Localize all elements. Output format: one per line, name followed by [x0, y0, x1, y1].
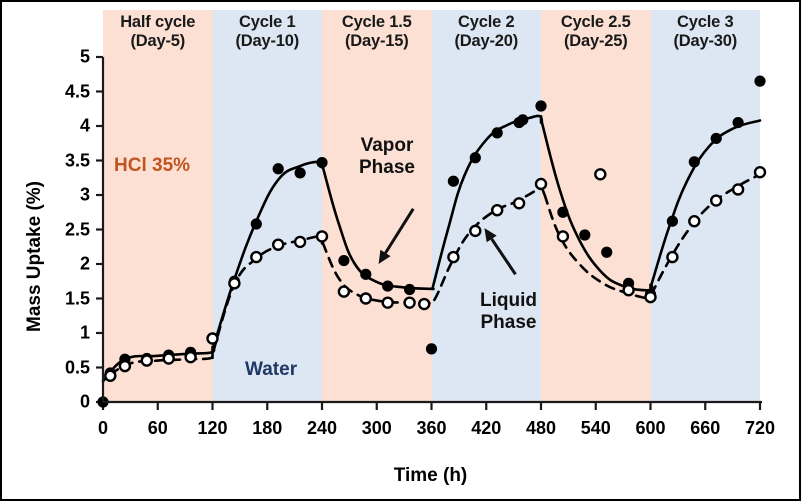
vapor-phase-data-point: [448, 176, 459, 187]
y-tick-label: 2.5: [2, 219, 90, 240]
liquid-phase-data-point: [405, 298, 415, 308]
vapor-phase-data-point: [382, 280, 393, 291]
x-tick-label: 0: [98, 418, 108, 439]
liquid-phase-data-point: [105, 371, 115, 381]
y-tick-label: 4.5: [2, 81, 90, 102]
liquid-phase-line2: Phase: [480, 312, 537, 334]
liquid-phase-data-point: [229, 278, 239, 288]
vapor-phase-data-point: [295, 167, 306, 178]
vapor-phase-data-point: [470, 152, 481, 163]
vapor-phase-data-point: [338, 255, 349, 266]
y-tick-label: 1.5: [2, 288, 90, 309]
vapor-phase-data-point: [689, 156, 700, 167]
vapor-phase-data-point: [601, 247, 612, 258]
y-tick-label: 4: [2, 116, 90, 137]
annotation-arrow: [484, 228, 515, 274]
vapor-phase-line1: Vapor: [359, 135, 415, 157]
x-tick-label: 360: [416, 418, 446, 439]
liquid-phase-data-point: [251, 252, 261, 262]
vapor-phase-data-point: [251, 218, 262, 229]
x-tick-label: 480: [526, 418, 556, 439]
liquid-phase-data-point: [295, 237, 305, 247]
liquid-phase-data-point: [186, 352, 196, 362]
liquid-phase-data-point: [667, 252, 677, 262]
x-tick-label: 300: [362, 418, 392, 439]
vapor-phase-data-point: [535, 100, 546, 111]
x-tick-label: 180: [252, 418, 282, 439]
figure-panel: Half cycle(Day-5)Cycle 1(Day-10)Cycle 1.…: [0, 0, 801, 501]
vapor-phase-data-point: [492, 127, 503, 138]
hcl-annotation: HCl 35%: [114, 155, 190, 177]
vapor-phase-data-point: [733, 117, 744, 128]
liquid-phase-data-point: [711, 196, 721, 206]
liquid-phase-data-point: [514, 198, 524, 208]
liquid-phase-data-point: [361, 294, 371, 304]
x-tick-label: 660: [690, 418, 720, 439]
vapor-phase-fit-curve: [213, 162, 323, 347]
arrow-annotations: [379, 209, 516, 275]
y-tick-label: 5: [2, 47, 90, 68]
liquid-phase-data-point: [595, 169, 605, 179]
x-tick-label: 600: [635, 418, 665, 439]
vapor-phase-data-point: [579, 229, 590, 240]
liquid-phase-data-point: [142, 356, 152, 366]
liquid-phase-line1: Liquid: [480, 290, 537, 312]
vapor-phase-data-point: [404, 284, 415, 295]
vapor-phase-data-point: [557, 207, 568, 218]
liquid-phase-data-point: [536, 179, 546, 189]
liquid-phase-data-point: [120, 361, 130, 371]
liquid-phase-annotation: Liquid Phase: [480, 290, 537, 334]
annotation-arrow: [379, 209, 414, 264]
liquid-phase-data-point: [624, 285, 634, 295]
y-axis-title: Mass Uptake (%): [24, 181, 46, 332]
liquid-phase-data-point: [317, 231, 327, 241]
liquid-phase-data-point: [448, 252, 458, 262]
liquid-phase-data-point: [689, 216, 699, 226]
liquid-phase-data-point: [419, 299, 429, 309]
liquid-phase-data-point: [733, 184, 743, 194]
liquid-phase-data-point: [164, 354, 174, 364]
x-tick-label: 720: [745, 418, 775, 439]
x-axis-title: Time (h): [30, 465, 801, 487]
vapor-phase-data-point: [517, 114, 528, 125]
x-tick-label: 240: [307, 418, 337, 439]
liquid-phase-data-point: [558, 231, 568, 241]
y-tick-label: 3.5: [2, 150, 90, 171]
vapor-phase-line2: Phase: [359, 157, 415, 179]
liquid-phase-data-point: [383, 298, 393, 308]
x-tick-label: 540: [581, 418, 611, 439]
liquid-phase-data-point: [755, 167, 765, 177]
liquid-phase-data-point: [492, 205, 502, 215]
vapor-phase-data-point: [711, 133, 722, 144]
liquid-phase-data-point: [339, 287, 349, 297]
vapor-phase-data-point: [754, 76, 765, 87]
liquid-phase-data-point: [470, 226, 480, 236]
vapor-phase-data-point: [273, 163, 284, 174]
vapor-phase-fit-curve: [432, 116, 541, 289]
water-annotation: Water: [245, 359, 297, 381]
x-tick-label: 120: [197, 418, 227, 439]
vapor-phase-data-point: [426, 343, 437, 354]
vapor-phase-annotation: Vapor Phase: [359, 135, 415, 179]
y-tick-label: 1: [2, 323, 90, 344]
plot-svg: [2, 2, 801, 503]
liquid-phase-data-point: [273, 240, 283, 250]
vapor-phase-fit-curve: [542, 123, 653, 291]
fit-curves: [103, 116, 760, 381]
vapor-phase-fit-curve: [323, 167, 434, 289]
y-tick-label: 0: [2, 392, 90, 413]
x-tick-label: 420: [471, 418, 501, 439]
x-tick-label: 60: [148, 418, 168, 439]
y-tick-label: 0.5: [2, 357, 90, 378]
vapor-phase-data-point: [667, 216, 678, 227]
y-tick-label: 3: [2, 185, 90, 206]
y-tick-label: 2: [2, 254, 90, 275]
liquid-phase-data-point: [208, 334, 218, 344]
liquid-phase-data-point: [646, 292, 656, 302]
vapor-phase-data-point: [360, 269, 371, 280]
vapor-phase-data-point: [316, 157, 327, 168]
